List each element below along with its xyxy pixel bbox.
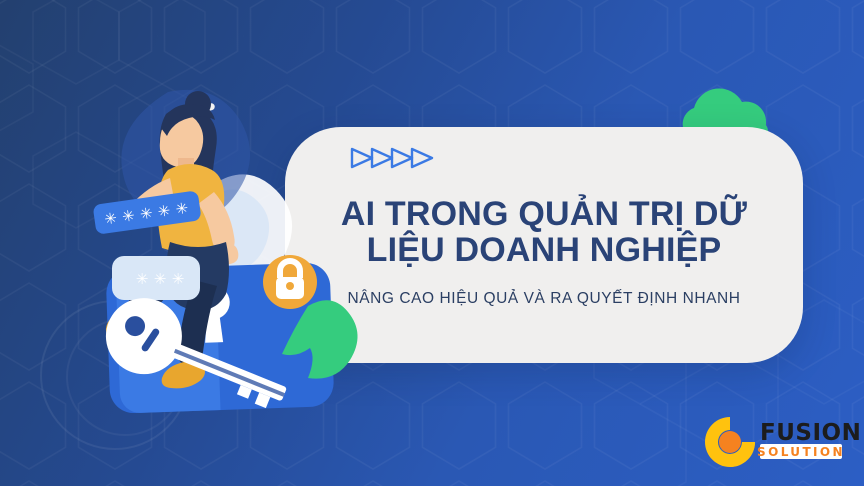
lock-badge-icon	[263, 255, 317, 309]
fusion-swirl-icon	[705, 417, 755, 467]
page-title: AI TRONG QUẢN TRỊ DỮLIỆU DOANH NGHIỆP	[305, 196, 783, 269]
logo-wordmark: FUSION SOLUTION	[757, 420, 861, 459]
asterisk-glyph: ✳	[157, 201, 172, 221]
logo-word-primary: FUSION	[760, 420, 861, 446]
svg-text:✳: ✳	[136, 270, 149, 288]
content-card: AI TRONG QUẢN TRỊ DỮLIỆU DOANH NGHIỆP NÂ…	[285, 127, 803, 363]
fusion-solution-logo[interactable]: FUSION SOLUTION	[700, 412, 846, 468]
security-illustration: ✳ ✳ ✳ ✳ ✳ ✳ ✳ ✳	[18, 74, 358, 404]
title-line-1: AI TRONG QUẢN TRỊ DỮ	[341, 195, 747, 233]
chevron-right-triangles-icon	[350, 146, 446, 170]
page-subtitle: NÂNG CAO HIỆU QUẢ VÀ RA QUYẾT ĐỊNH NHANH	[309, 290, 779, 308]
svg-text:✳: ✳	[154, 270, 167, 288]
title-line-2: LIỆU DOANH NGHIỆP	[305, 232, 783, 268]
banner-canvas: AI TRONG QUẢN TRỊ DỮLIỆU DOANH NGHIỆP NÂ…	[0, 0, 864, 486]
asterisk-glyph: ✳	[174, 199, 189, 219]
asterisk-glyph: ✳	[121, 206, 136, 226]
asterisk-glyph: ✳	[139, 204, 154, 224]
logo-word-secondary: SOLUTION	[757, 445, 845, 459]
asterisk-glyph: ✳	[103, 209, 118, 229]
svg-text:✳: ✳	[172, 270, 185, 288]
